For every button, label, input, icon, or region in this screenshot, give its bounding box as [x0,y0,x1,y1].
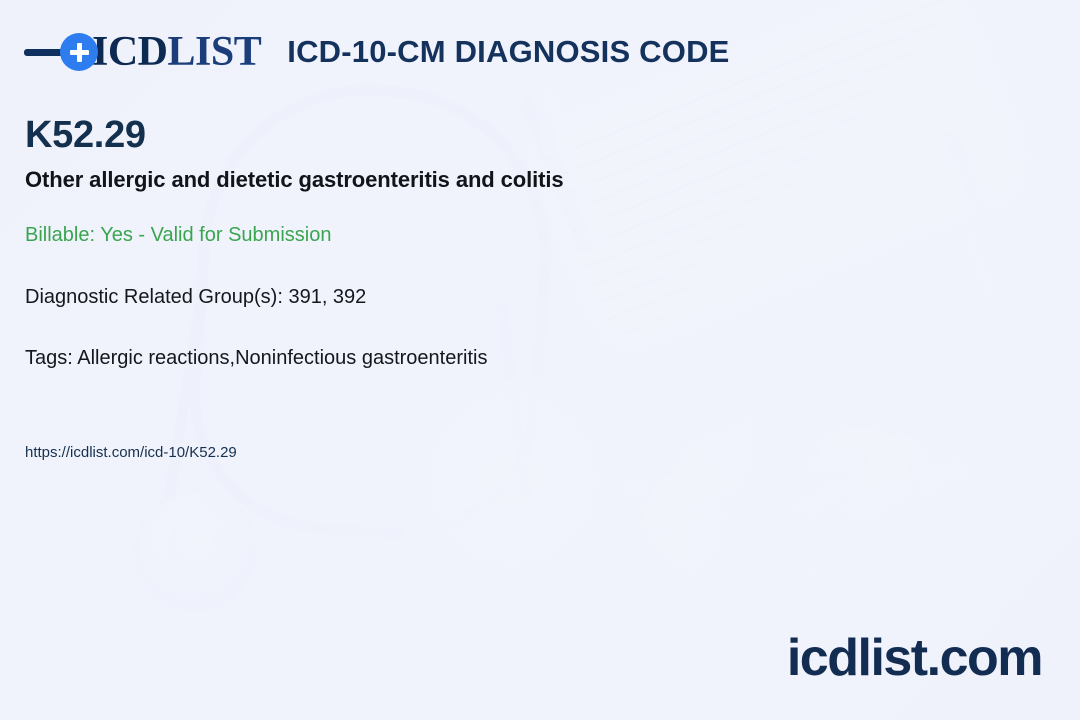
diagnosis-description: Other allergic and dietetic gastroenteri… [25,167,564,193]
logo-wordmark: ICDLIST [92,31,261,73]
plus-icon-horizontal-bar [70,50,89,55]
source-url[interactable]: https://icdlist.com/icd-10/K52.29 [25,444,237,461]
diagnosis-code: K52.29 [25,114,146,157]
tags-list: Tags: Allergic reactions,Noninfectious g… [25,347,487,370]
page-title: ICD-10-CM DIAGNOSIS CODE [287,34,729,70]
billable-status: Billable: Yes - Valid for Submission [25,224,331,247]
diagnostic-related-groups: Diagnostic Related Group(s): 391, 392 [25,286,366,309]
site-watermark: icdlist.com [787,628,1042,688]
icd-code-card: ICDLIST ICD-10-CM DIAGNOSIS CODE K52.29 … [0,0,1080,720]
plus-circle-icon [60,33,98,71]
logo-word-icd: ICD [92,29,168,75]
card-content: ICDLIST ICD-10-CM DIAGNOSIS CODE K52.29 … [0,0,1080,720]
icdlist-logo[interactable]: ICDLIST [24,24,261,80]
dash-icon [24,49,64,56]
logo-word-list: LIST [168,29,262,75]
card-header: ICDLIST ICD-10-CM DIAGNOSIS CODE [24,24,730,80]
